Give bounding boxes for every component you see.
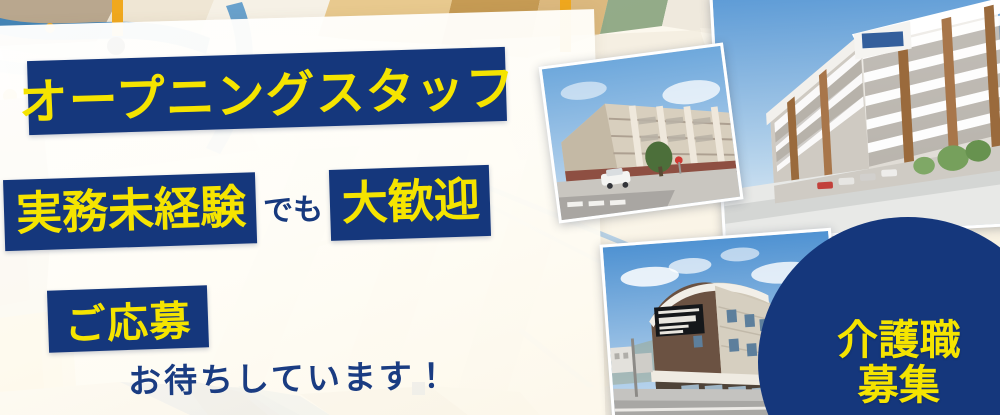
headline-connector-demo: でも <box>255 184 330 230</box>
headline-big-welcome: 大歓迎 <box>329 164 491 240</box>
badge-line-recruiting: 募集 <box>804 364 994 407</box>
headline-waiting-for-you: お待ちしています！ <box>128 349 452 403</box>
headline-no-experience: 実務未経験 <box>3 172 257 251</box>
recruitment-banner: オープニングスタッフ 実務未経験 でも 大歓迎 ご応募 お待ちしています！ 介護… <box>0 0 1000 415</box>
corner-badge-text: 介護職 募集 <box>804 319 994 407</box>
badge-line-caregiver: 介護職 <box>804 319 994 362</box>
headline-opening-staff: オープニングスタッフ <box>27 47 507 135</box>
photo-care-facility-beige <box>538 43 743 224</box>
photo-apartment-rendering <box>709 0 1000 242</box>
headline-apply: ご応募 <box>47 285 209 353</box>
